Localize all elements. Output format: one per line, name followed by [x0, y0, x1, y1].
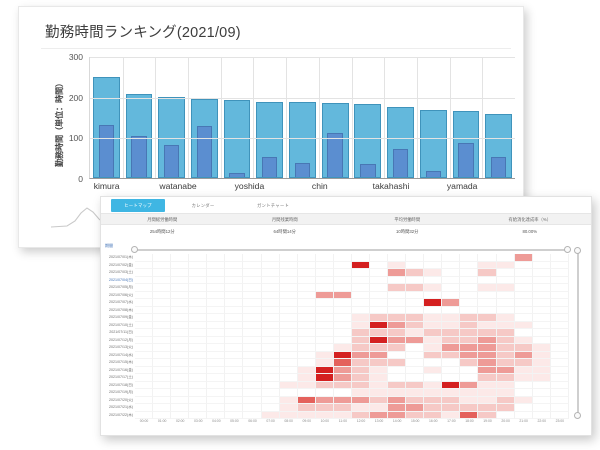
heatmap-cell[interactable] — [171, 352, 189, 360]
heatmap-cell[interactable] — [189, 292, 207, 300]
heatmap-cell[interactable] — [406, 269, 424, 277]
bar-group[interactable] — [221, 57, 254, 178]
heatmap-cell[interactable] — [189, 404, 207, 412]
heatmap-cell[interactable] — [388, 359, 406, 367]
heatmap-cell[interactable] — [551, 329, 569, 337]
heatmap-cell[interactable] — [316, 397, 334, 405]
heatmap-cell[interactable] — [316, 314, 334, 322]
heatmap-row-label[interactable]: 2021/07/11(日) — [105, 329, 135, 337]
heatmap-cell[interactable] — [370, 292, 388, 300]
bar-total-hours[interactable] — [354, 104, 381, 178]
heatmap-cell[interactable] — [207, 284, 225, 292]
bar-total-hours[interactable] — [93, 77, 120, 178]
heatmap-cell[interactable] — [551, 352, 569, 360]
heatmap-cell[interactable] — [497, 404, 515, 412]
heatmap-cell[interactable] — [334, 367, 352, 375]
heatmap-cell[interactable] — [153, 397, 171, 405]
heatmap-cell[interactable] — [171, 367, 189, 375]
heatmap-cell[interactable] — [533, 389, 551, 397]
bar-overtime-hours[interactable] — [458, 143, 473, 177]
heatmap-cell[interactable] — [243, 329, 261, 337]
heatmap-cell[interactable] — [280, 269, 298, 277]
heatmap-row-label[interactable]: 2021/07/12(月) — [105, 337, 135, 345]
heatmap-cell[interactable] — [153, 367, 171, 375]
heatmap-cell[interactable] — [189, 314, 207, 322]
heatmap-cell[interactable] — [515, 284, 533, 292]
heatmap-cell[interactable] — [262, 284, 280, 292]
heatmap-cell[interactable] — [515, 337, 533, 345]
heatmap-cell[interactable] — [153, 307, 171, 315]
heatmap-cell[interactable] — [370, 329, 388, 337]
heatmap-cell[interactable] — [370, 254, 388, 262]
heatmap-cell[interactable] — [171, 329, 189, 337]
heatmap-cell[interactable] — [551, 314, 569, 322]
heatmap-cell[interactable] — [370, 299, 388, 307]
heatmap-cell[interactable] — [225, 277, 243, 285]
heatmap-cell[interactable] — [478, 314, 496, 322]
heatmap-cell[interactable] — [316, 299, 334, 307]
heatmap-cell[interactable] — [515, 367, 533, 375]
heatmap-cell[interactable] — [460, 352, 478, 360]
heatmap-cell[interactable] — [262, 374, 280, 382]
heatmap-cell[interactable] — [262, 262, 280, 270]
heatmap-cell[interactable] — [515, 389, 533, 397]
heatmap-cell[interactable] — [262, 397, 280, 405]
bar-overtime-hours[interactable] — [491, 157, 506, 177]
heatmap-cell[interactable] — [334, 382, 352, 390]
heatmap-cell[interactable] — [406, 322, 424, 330]
bar-group[interactable] — [188, 57, 221, 178]
heatmap-row-label[interactable]: 2021/07/09(金) — [105, 314, 135, 322]
heatmap-cell[interactable] — [515, 254, 533, 262]
heatmap-cell[interactable] — [298, 389, 316, 397]
heatmap-cell[interactable] — [334, 292, 352, 300]
heatmap-cell[interactable] — [316, 329, 334, 337]
heatmap-cell[interactable] — [460, 322, 478, 330]
heatmap-cell[interactable] — [352, 307, 370, 315]
heatmap-cell[interactable] — [189, 337, 207, 345]
heatmap-cell[interactable] — [424, 292, 442, 300]
heatmap-cell[interactable] — [189, 382, 207, 390]
heatmap-cell[interactable] — [153, 292, 171, 300]
heatmap-row-label[interactable]: 2021/07/15(木) — [105, 359, 135, 367]
heatmap-cell[interactable] — [207, 307, 225, 315]
heatmap-cell[interactable] — [207, 277, 225, 285]
bar-total-hours[interactable] — [387, 107, 414, 178]
heatmap-cell[interactable] — [207, 254, 225, 262]
heatmap-cell[interactable] — [262, 382, 280, 390]
heatmap-cell[interactable] — [497, 254, 515, 262]
heatmap-cell[interactable] — [243, 404, 261, 412]
heatmap-cell[interactable] — [515, 344, 533, 352]
heatmap-cell[interactable] — [334, 254, 352, 262]
heatmap-cell[interactable] — [171, 277, 189, 285]
heatmap-cell[interactable] — [171, 397, 189, 405]
heatmap-cell[interactable] — [424, 269, 442, 277]
heatmap-cell[interactable] — [280, 322, 298, 330]
slider-handle-left[interactable] — [131, 246, 138, 253]
heatmap-cell[interactable] — [280, 367, 298, 375]
heatmap-cell[interactable] — [460, 367, 478, 375]
heatmap-cell[interactable] — [551, 404, 569, 412]
heatmap-cell[interactable] — [243, 367, 261, 375]
heatmap-cell[interactable] — [370, 262, 388, 270]
heatmap-cell[interactable] — [533, 254, 551, 262]
heatmap-cell[interactable] — [298, 307, 316, 315]
heatmap-cell[interactable] — [370, 367, 388, 375]
heatmap-cell[interactable] — [352, 389, 370, 397]
heatmap-cell[interactable] — [135, 404, 153, 412]
heatmap-cell[interactable] — [262, 254, 280, 262]
heatmap-cell[interactable] — [207, 292, 225, 300]
heatmap-cell[interactable] — [334, 412, 352, 420]
heatmap-cell[interactable] — [225, 352, 243, 360]
heatmap-cell[interactable] — [189, 262, 207, 270]
heatmap-cell[interactable] — [551, 382, 569, 390]
heatmap-cell[interactable] — [442, 389, 460, 397]
heatmap-cell[interactable] — [189, 359, 207, 367]
heatmap-cell[interactable] — [352, 277, 370, 285]
heatmap-cell[interactable] — [551, 322, 569, 330]
heatmap-cell[interactable] — [388, 397, 406, 405]
heatmap-cell[interactable] — [225, 329, 243, 337]
heatmap-cell[interactable] — [298, 262, 316, 270]
heatmap-cell[interactable] — [262, 412, 280, 420]
heatmap-row-label[interactable]: 2021/07/20(火) — [105, 397, 135, 405]
heatmap-cell[interactable] — [370, 344, 388, 352]
tab-0[interactable]: ヒートマップ — [111, 199, 165, 212]
heatmap-cell[interactable] — [153, 262, 171, 270]
heatmap-cell[interactable] — [171, 307, 189, 315]
heatmap-row-label[interactable]: 2021/07/04(日) — [105, 277, 135, 285]
heatmap-cell[interactable] — [352, 352, 370, 360]
heatmap-cell[interactable] — [225, 322, 243, 330]
bar-group[interactable] — [482, 57, 515, 178]
heatmap-cell[interactable] — [135, 299, 153, 307]
heatmap-cell[interactable] — [406, 277, 424, 285]
heatmap-cell[interactable] — [460, 412, 478, 420]
heatmap-cell[interactable] — [370, 359, 388, 367]
heatmap-cell[interactable] — [406, 314, 424, 322]
heatmap-cell[interactable] — [352, 254, 370, 262]
heatmap-cell[interactable] — [298, 359, 316, 367]
heatmap-cell[interactable] — [262, 322, 280, 330]
heatmap-cell[interactable] — [370, 397, 388, 405]
heatmap-cell[interactable] — [424, 307, 442, 315]
heatmap-cell[interactable] — [243, 352, 261, 360]
heatmap-cell[interactable] — [316, 254, 334, 262]
heatmap-cell[interactable] — [497, 277, 515, 285]
heatmap-cell[interactable] — [406, 337, 424, 345]
heatmap-cell[interactable] — [388, 292, 406, 300]
heatmap-cell[interactable] — [262, 359, 280, 367]
heatmap-cell[interactable] — [442, 382, 460, 390]
heatmap-cell[interactable] — [460, 374, 478, 382]
heatmap-cell[interactable] — [262, 269, 280, 277]
heatmap-cell[interactable] — [225, 254, 243, 262]
heatmap-cell[interactable] — [424, 382, 442, 390]
heatmap-cell[interactable] — [171, 382, 189, 390]
heatmap-cell[interactable] — [225, 374, 243, 382]
bar-group[interactable] — [253, 57, 286, 178]
heatmap-cell[interactable] — [153, 404, 171, 412]
heatmap-cell[interactable] — [388, 254, 406, 262]
heatmap-cell[interactable] — [442, 284, 460, 292]
heatmap-cell[interactable] — [478, 277, 496, 285]
heatmap-cell[interactable] — [225, 262, 243, 270]
heatmap-cell[interactable] — [352, 404, 370, 412]
heatmap-cell[interactable] — [135, 284, 153, 292]
heatmap-cell[interactable] — [478, 284, 496, 292]
heatmap-cell[interactable] — [388, 277, 406, 285]
heatmap-cell[interactable] — [171, 269, 189, 277]
heatmap-cell[interactable] — [478, 382, 496, 390]
heatmap-row-label[interactable]: 2021/07/13(火) — [105, 344, 135, 352]
heatmap-cell[interactable] — [478, 412, 496, 420]
heatmap-cell[interactable] — [135, 397, 153, 405]
heatmap-cell[interactable] — [243, 337, 261, 345]
heatmap-cell[interactable] — [352, 397, 370, 405]
heatmap-cell[interactable] — [551, 254, 569, 262]
heatmap-cell[interactable] — [515, 322, 533, 330]
bar-total-hours[interactable] — [453, 111, 480, 178]
heatmap-cell[interactable] — [388, 404, 406, 412]
heatmap-cell[interactable] — [478, 344, 496, 352]
heatmap-cell[interactable] — [225, 284, 243, 292]
heatmap-cell[interactable] — [424, 344, 442, 352]
heatmap-cell[interactable] — [243, 299, 261, 307]
heatmap-cell[interactable] — [298, 337, 316, 345]
vertical-slider-track[interactable] — [577, 252, 579, 414]
heatmap-cell[interactable] — [352, 359, 370, 367]
heatmap-cell[interactable] — [442, 262, 460, 270]
heatmap-cell[interactable] — [533, 397, 551, 405]
heatmap-cell[interactable] — [497, 352, 515, 360]
heatmap-cell[interactable] — [551, 269, 569, 277]
heatmap-cell[interactable] — [370, 374, 388, 382]
heatmap-cell[interactable] — [243, 374, 261, 382]
bar-overtime-hours[interactable] — [426, 171, 441, 177]
heatmap-cell[interactable] — [153, 412, 171, 420]
heatmap-cell[interactable] — [153, 299, 171, 307]
heatmap-cell[interactable] — [352, 337, 370, 345]
heatmap-cell[interactable] — [478, 254, 496, 262]
heatmap-row-label[interactable]: 2021/07/03(土) — [105, 269, 135, 277]
heatmap-cell[interactable] — [460, 284, 478, 292]
heatmap-cell[interactable] — [406, 352, 424, 360]
heatmap-cell[interactable] — [135, 382, 153, 390]
heatmap-cell[interactable] — [533, 277, 551, 285]
heatmap-cell[interactable] — [533, 329, 551, 337]
heatmap-cell[interactable] — [515, 374, 533, 382]
heatmap-cell[interactable] — [442, 344, 460, 352]
heatmap-cell[interactable] — [334, 277, 352, 285]
heatmap-cell[interactable] — [478, 322, 496, 330]
heatmap-cell[interactable] — [189, 352, 207, 360]
heatmap-cell[interactable] — [460, 292, 478, 300]
heatmap-cell[interactable] — [424, 404, 442, 412]
heatmap-cell[interactable] — [243, 269, 261, 277]
heatmap-cell[interactable] — [442, 367, 460, 375]
heatmap-cell[interactable] — [515, 397, 533, 405]
heatmap-cell[interactable] — [515, 382, 533, 390]
heatmap-cell[interactable] — [280, 337, 298, 345]
heatmap-cell[interactable] — [406, 367, 424, 375]
heatmap-cell[interactable] — [189, 299, 207, 307]
heatmap-cell[interactable] — [478, 299, 496, 307]
bar-overtime-hours[interactable] — [229, 173, 244, 177]
heatmap-row-label[interactable]: 2021/07/05(月) — [105, 284, 135, 292]
bar-overtime-hours[interactable] — [360, 164, 375, 177]
heatmap-cell[interactable] — [460, 344, 478, 352]
heatmap-cell[interactable] — [280, 277, 298, 285]
heatmap-cell[interactable] — [243, 307, 261, 315]
heatmap-cell[interactable] — [370, 314, 388, 322]
heatmap-row-label[interactable]: 2021/07/06(火) — [105, 292, 135, 300]
heatmap-cell[interactable] — [460, 329, 478, 337]
heatmap-cell[interactable] — [370, 277, 388, 285]
heatmap-cell[interactable] — [515, 299, 533, 307]
heatmap-cell[interactable] — [533, 314, 551, 322]
heatmap-cell[interactable] — [406, 284, 424, 292]
heatmap-cell[interactable] — [424, 367, 442, 375]
heatmap-cell[interactable] — [334, 262, 352, 270]
bar-group[interactable] — [286, 57, 319, 178]
heatmap-cell[interactable] — [298, 292, 316, 300]
heatmap-cell[interactable] — [316, 404, 334, 412]
heatmap-cell[interactable] — [406, 404, 424, 412]
heatmap-cell[interactable] — [424, 314, 442, 322]
heatmap-cell[interactable] — [171, 412, 189, 420]
heatmap-cell[interactable] — [334, 374, 352, 382]
heatmap-cell[interactable] — [424, 359, 442, 367]
heatmap-cell[interactable] — [442, 314, 460, 322]
heatmap-row-label[interactable]: 2021/07/17(土) — [105, 374, 135, 382]
heatmap-cell[interactable] — [478, 389, 496, 397]
heatmap-cell[interactable] — [352, 382, 370, 390]
heatmap-cell[interactable] — [280, 359, 298, 367]
heatmap-cell[interactable] — [460, 307, 478, 315]
heatmap-cell[interactable] — [424, 412, 442, 420]
heatmap-cell[interactable] — [533, 292, 551, 300]
heatmap-cell[interactable] — [316, 322, 334, 330]
heatmap-cell[interactable] — [497, 374, 515, 382]
heatmap-cell[interactable] — [135, 277, 153, 285]
heatmap-cell[interactable] — [171, 344, 189, 352]
heatmap-cell[interactable] — [316, 412, 334, 420]
heatmap-cell[interactable] — [406, 397, 424, 405]
heatmap-cell[interactable] — [497, 262, 515, 270]
heatmap-cell[interactable] — [406, 307, 424, 315]
heatmap-cell[interactable] — [280, 374, 298, 382]
heatmap-cell[interactable] — [442, 269, 460, 277]
heatmap-cell[interactable] — [189, 322, 207, 330]
heatmap-cell[interactable] — [243, 254, 261, 262]
heatmap-cell[interactable] — [406, 299, 424, 307]
heatmap-cell[interactable] — [515, 352, 533, 360]
heatmap-cell[interactable] — [334, 397, 352, 405]
heatmap-cell[interactable] — [171, 314, 189, 322]
heatmap-cell[interactable] — [352, 322, 370, 330]
heatmap-cell[interactable] — [171, 262, 189, 270]
heatmap-cell[interactable] — [497, 337, 515, 345]
heatmap-cell[interactable] — [442, 412, 460, 420]
bar-group[interactable] — [319, 57, 352, 178]
heatmap-cell[interactable] — [388, 299, 406, 307]
slider-handle-right[interactable] — [564, 246, 571, 253]
heatmap-row-label[interactable]: 2021/07/21(水) — [105, 404, 135, 412]
heatmap-cell[interactable] — [551, 299, 569, 307]
heatmap-cell[interactable] — [533, 412, 551, 420]
heatmap-cell[interactable] — [370, 307, 388, 315]
heatmap-cell[interactable] — [388, 329, 406, 337]
heatmap-cell[interactable] — [424, 262, 442, 270]
heatmap-cell[interactable] — [460, 269, 478, 277]
heatmap-cell[interactable] — [280, 254, 298, 262]
heatmap-cell[interactable] — [225, 292, 243, 300]
heatmap-cell[interactable] — [370, 284, 388, 292]
heatmap-cell[interactable] — [352, 292, 370, 300]
heatmap-cell[interactable] — [533, 284, 551, 292]
heatmap-cell[interactable] — [262, 404, 280, 412]
heatmap-cell[interactable] — [262, 292, 280, 300]
heatmap-cell[interactable] — [406, 374, 424, 382]
heatmap-cell[interactable] — [424, 374, 442, 382]
heatmap-cell[interactable] — [316, 284, 334, 292]
heatmap-cell[interactable] — [280, 307, 298, 315]
heatmap-cell[interactable] — [243, 382, 261, 390]
heatmap-cell[interactable] — [135, 329, 153, 337]
heatmap-cell[interactable] — [135, 322, 153, 330]
heatmap-cell[interactable] — [370, 269, 388, 277]
heatmap-cell[interactable] — [207, 374, 225, 382]
heatmap-cell[interactable] — [497, 389, 515, 397]
heatmap-cell[interactable] — [189, 344, 207, 352]
heatmap-cell[interactable] — [406, 382, 424, 390]
heatmap-cell[interactable] — [388, 284, 406, 292]
heatmap-cell[interactable] — [388, 389, 406, 397]
bar-total-hours[interactable] — [289, 102, 316, 178]
bar-group[interactable] — [90, 57, 123, 178]
bar-overtime-hours[interactable] — [262, 157, 277, 177]
heatmap-cell[interactable] — [460, 389, 478, 397]
heatmap-cell[interactable] — [262, 277, 280, 285]
heatmap-cell[interactable] — [171, 292, 189, 300]
heatmap-cell[interactable] — [388, 374, 406, 382]
heatmap-cell[interactable] — [388, 322, 406, 330]
heatmap-cell[interactable] — [207, 262, 225, 270]
heatmap-cell[interactable] — [189, 307, 207, 315]
period-range-slider[interactable] — [131, 245, 571, 254]
heatmap-cell[interactable] — [497, 397, 515, 405]
heatmap-cell[interactable] — [171, 284, 189, 292]
heatmap-cell[interactable] — [280, 397, 298, 405]
heatmap-cell[interactable] — [153, 329, 171, 337]
heatmap-cell[interactable] — [442, 322, 460, 330]
heatmap-cell[interactable] — [497, 359, 515, 367]
heatmap-cell[interactable] — [262, 299, 280, 307]
heatmap-cell[interactable] — [406, 254, 424, 262]
heatmap-cell[interactable] — [442, 352, 460, 360]
heatmap-cell[interactable] — [153, 352, 171, 360]
heatmap-cell[interactable] — [388, 352, 406, 360]
heatmap-cell[interactable] — [497, 292, 515, 300]
heatmap-cell[interactable] — [551, 374, 569, 382]
heatmap-cell[interactable] — [189, 367, 207, 375]
bar-overtime-hours[interactable] — [393, 149, 408, 177]
heatmap-cell[interactable] — [551, 292, 569, 300]
heatmap-cell[interactable] — [316, 307, 334, 315]
